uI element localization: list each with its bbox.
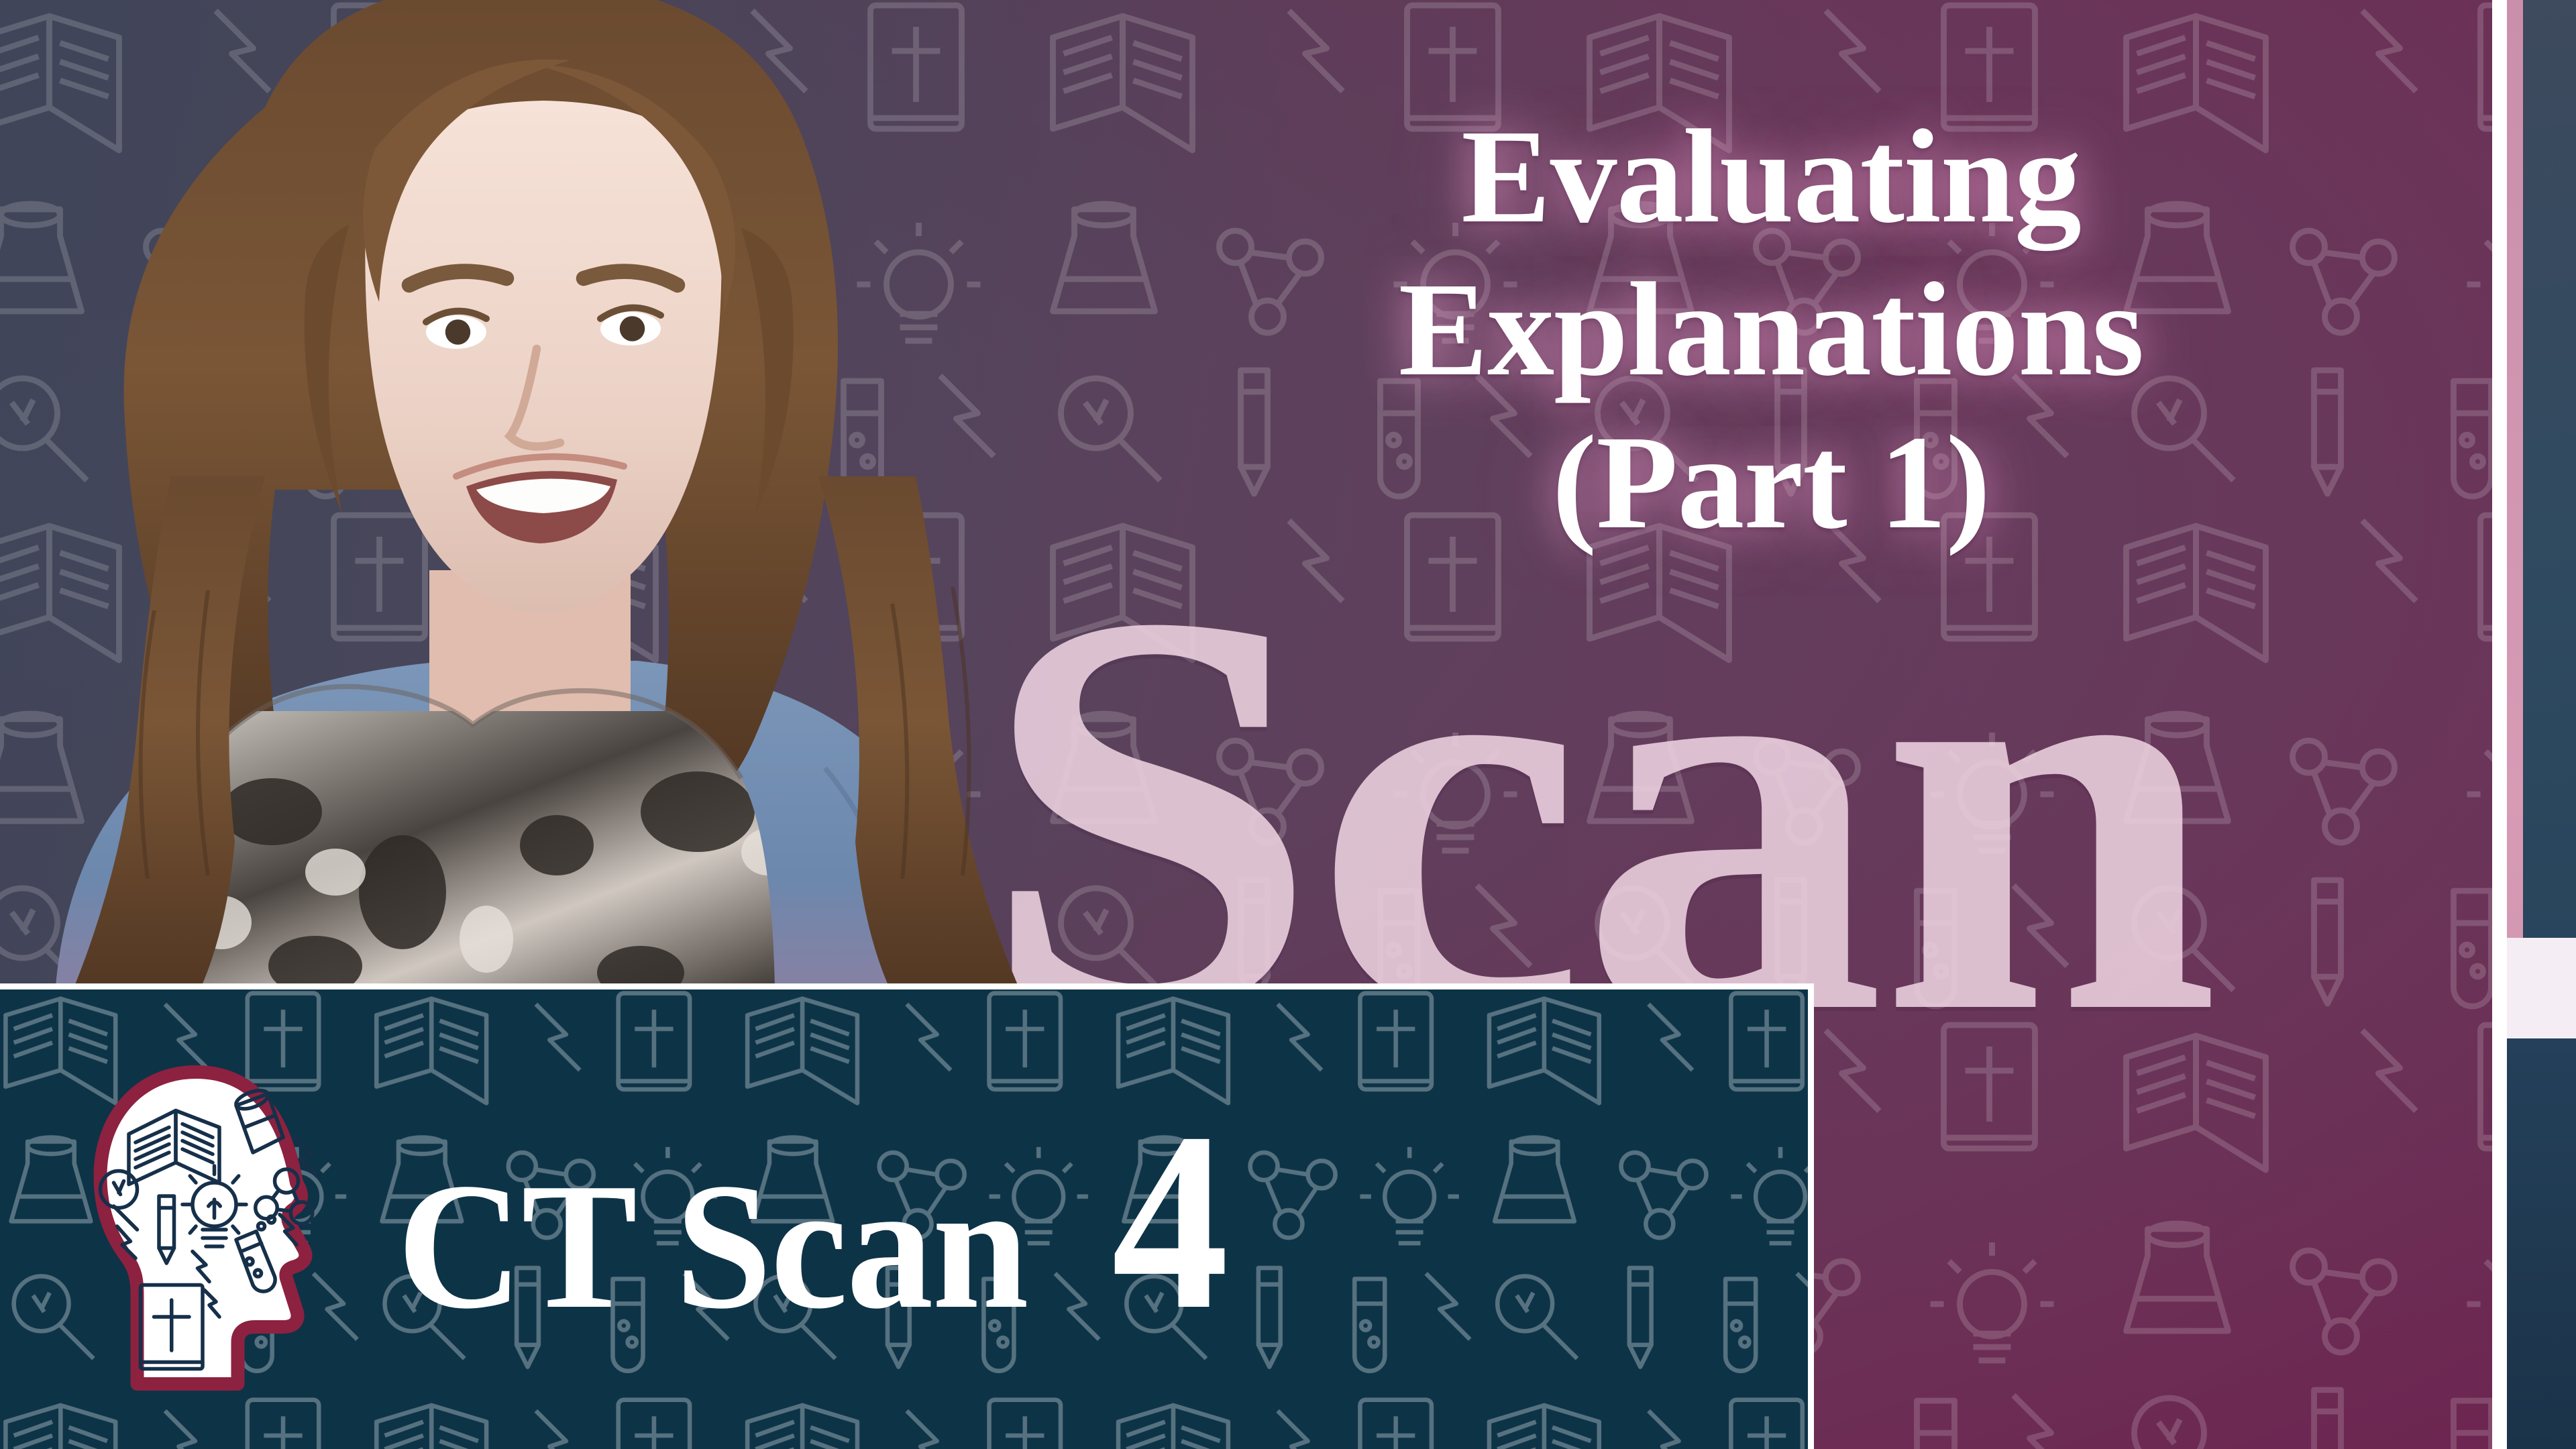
presenter-portrait [0, 0, 1127, 1020]
adjacent-thumbnail-bottom [2507, 1038, 2576, 1449]
adjacent-thumbnail-edge[interactable] [2507, 0, 2576, 1449]
thumbnail-divider [2492, 0, 2507, 1449]
adjacent-thumbnail-white-band [2507, 938, 2576, 1038]
episode-number: 4 [1112, 1094, 1229, 1349]
screenshot-canvas: Scan [0, 0, 2576, 1449]
banner-text: CT Scan 4 [397, 1094, 1239, 1349]
thinking-head-logo [89, 1065, 357, 1394]
video-thumbnail[interactable]: Scan [0, 0, 2492, 1449]
series-banner: CT Scan 4 [0, 983, 1814, 1449]
series-label: CT Scan [397, 1156, 1028, 1337]
